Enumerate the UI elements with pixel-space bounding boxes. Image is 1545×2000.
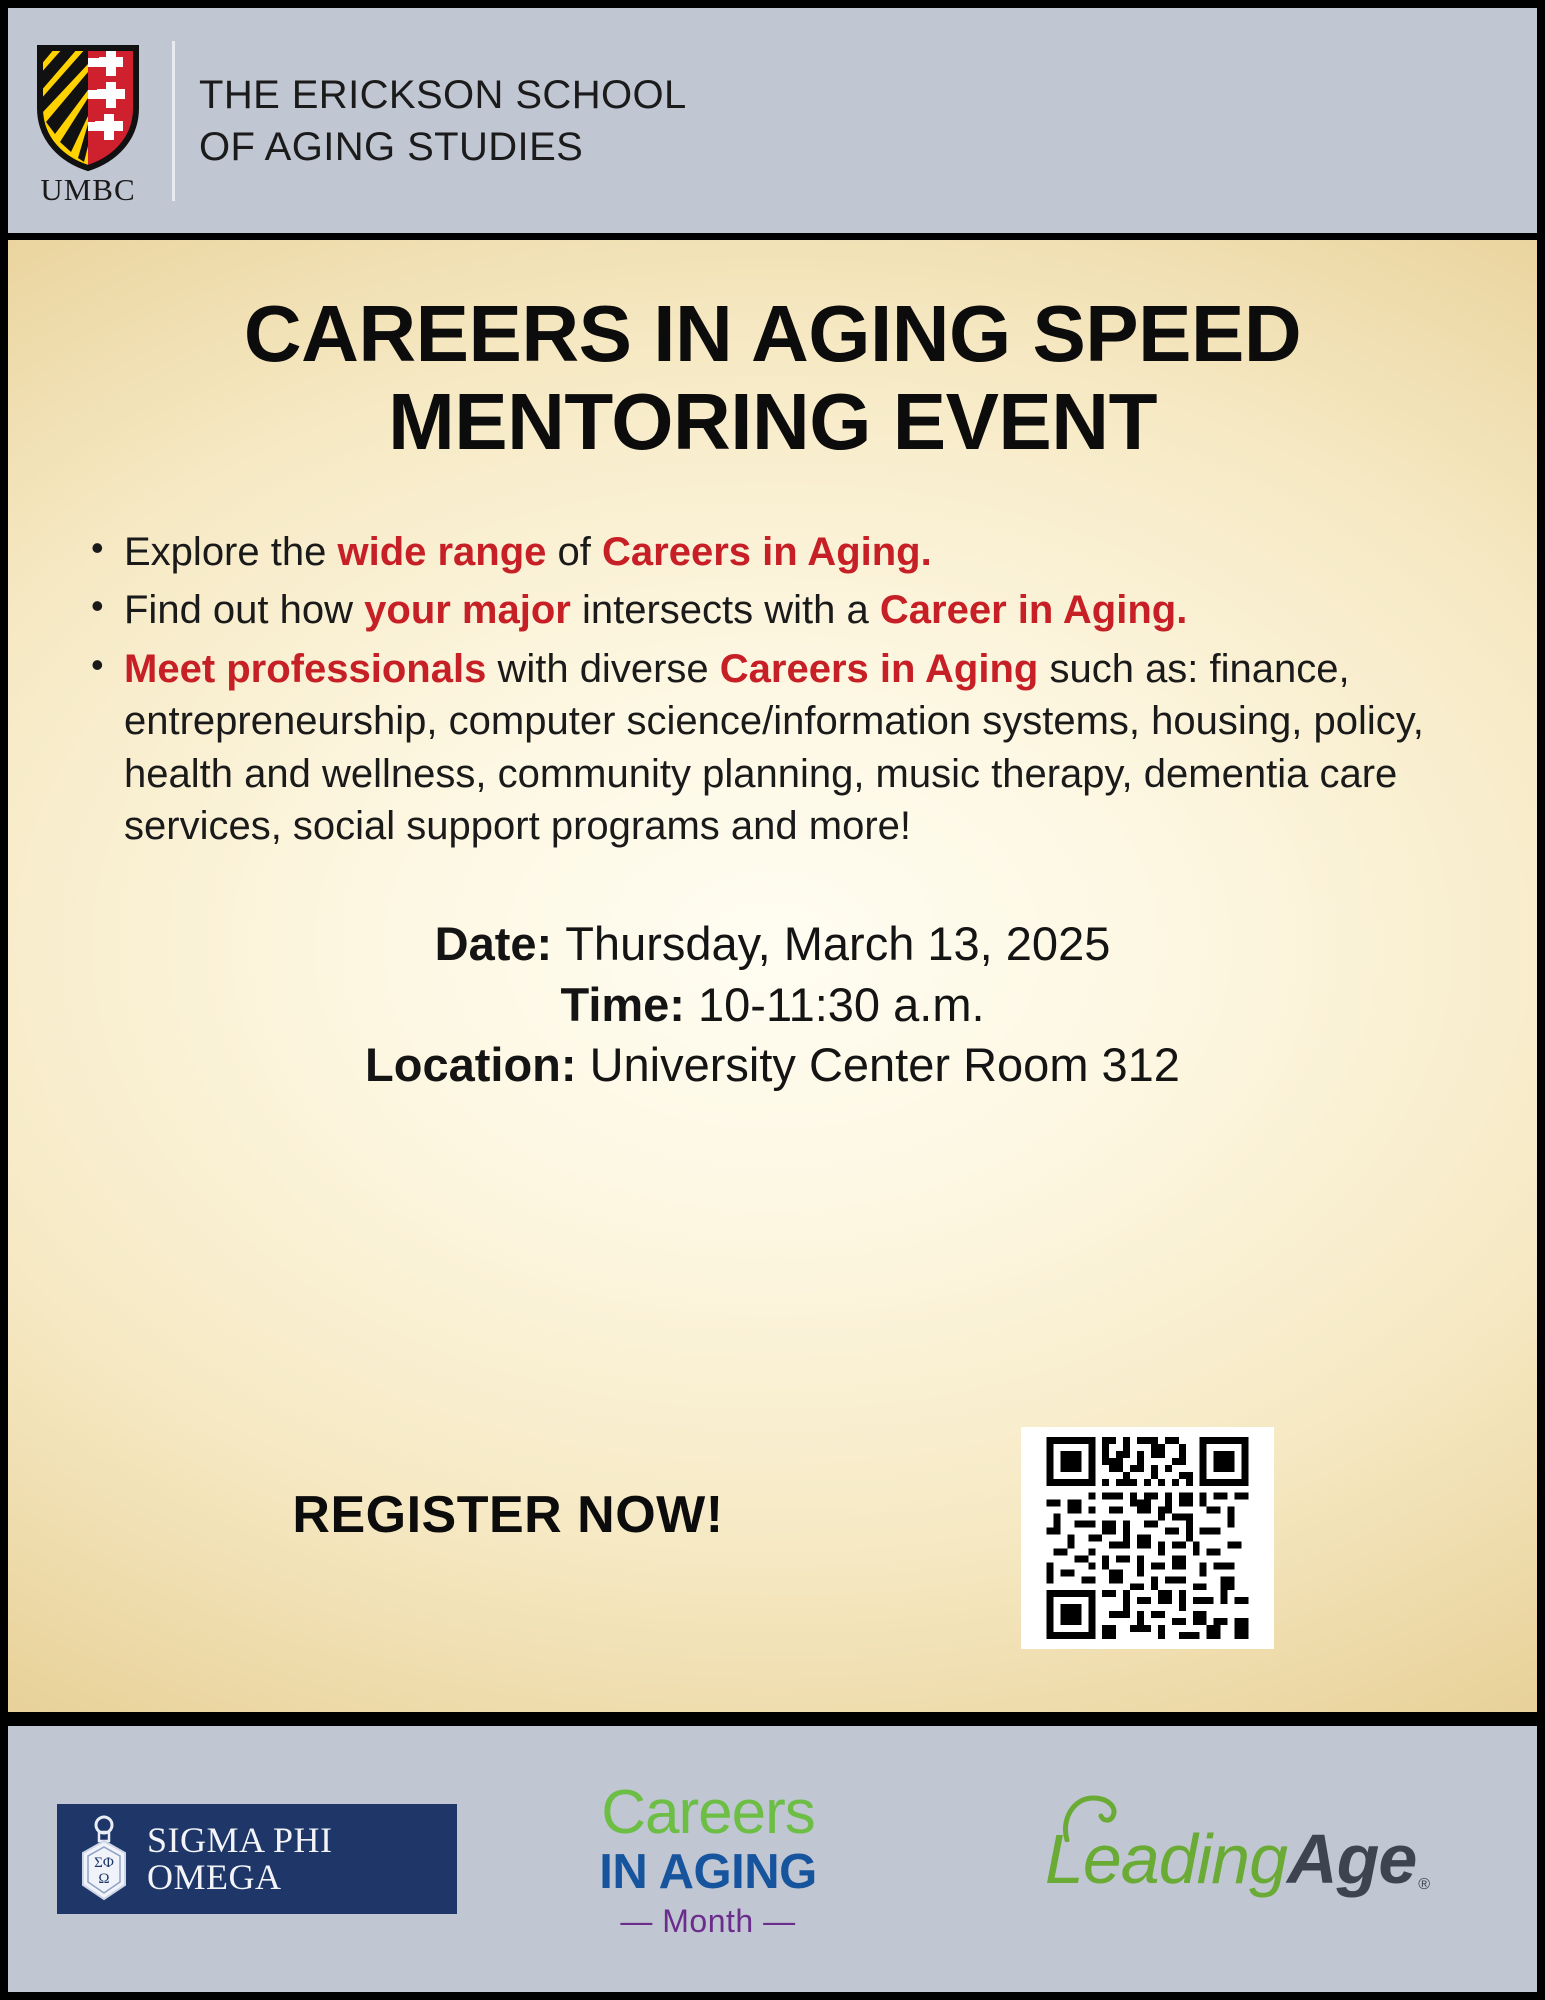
svg-text:ΣΦ: ΣΦ (94, 1855, 114, 1871)
spo-line1: SIGMA PHI (147, 1822, 333, 1859)
bullet-professionals: Meet professionals with diverse Careers … (124, 643, 1479, 853)
emphasis-text: wide range (337, 530, 546, 574)
header-bar: UMBC THE ERICKSON SCHOOL OF AGING STUDIE… (8, 8, 1537, 233)
careers-in-aging-month-logo: Careers IN AGING — Month — (599, 1782, 816, 1937)
leadingage-word-age: Age (1287, 1824, 1416, 1894)
bullet-major: Find out how your major intersects with … (124, 584, 1479, 636)
event-details: Date: Thursday, March 13, 2025Time: 10-1… (8, 914, 1537, 1094)
body-text: intersects with a (571, 588, 880, 632)
school-name: THE ERICKSON SCHOOL OF AGING STUDIES (199, 69, 687, 173)
umbc-wordmark: UMBC (40, 174, 135, 205)
detail-row: Location: University Center Room 312 (8, 1035, 1537, 1095)
emphasis-text: Meet professionals (124, 647, 486, 691)
cam-word-in-aging: IN AGING (599, 1848, 816, 1897)
register-cta: REGISTER NOW! (8, 1485, 1008, 1545)
sigma-phi-omega-wordmark: SIGMA PHI OMEGA (147, 1822, 333, 1895)
body-text: Find out how (124, 588, 364, 632)
emphasis-text: your major (364, 588, 571, 632)
qr-code-icon[interactable] (1021, 1427, 1274, 1649)
poster-root: UMBC THE ERICKSON SCHOOL OF AGING STUDIE… (0, 0, 1545, 2000)
main-content: CAREERS IN AGING SPEED MENTORING EVENT E… (8, 240, 1537, 1712)
sigma-phi-omega-logo: ΣΦ Ω SIGMA PHI OMEGA (57, 1804, 457, 1914)
leaf-swoosh-icon (1059, 1794, 1131, 1842)
footer-sponsor-bar: ΣΦ Ω SIGMA PHI OMEGA Careers IN AGING — … (8, 1726, 1537, 1992)
sponsor-leadingage: Leading Age ® (938, 1824, 1537, 1894)
leadingage-logo: Leading Age ® (1045, 1824, 1430, 1894)
body-text: with diverse (486, 647, 719, 691)
header-divider (172, 41, 175, 201)
detail-row: Date: Thursday, March 13, 2025 (8, 914, 1537, 974)
school-name-line2: OF AGING STUDIES (199, 121, 687, 173)
detail-row: Time: 10-11:30 a.m. (8, 975, 1537, 1035)
sponsor-sigma-phi-omega: ΣΦ Ω SIGMA PHI OMEGA (8, 1804, 478, 1914)
detail-label: Location: (365, 1038, 590, 1091)
detail-value: University Center Room 312 (590, 1038, 1180, 1091)
school-name-line1: THE ERICKSON SCHOOL (199, 69, 687, 121)
body-text: of (546, 530, 602, 574)
detail-value: 10-11:30 a.m. (698, 978, 985, 1031)
bullet-explore: Explore the wide range of Careers in Agi… (124, 526, 1479, 578)
emphasis-text: Careers in Aging. (602, 530, 932, 574)
sigma-phi-omega-pendant-icon: ΣΦ Ω (71, 1813, 137, 1905)
emphasis-text: Career in Aging. (880, 588, 1187, 632)
cam-word-careers: Careers (599, 1782, 816, 1844)
body-text: Explore the (124, 530, 337, 574)
umbc-logo-block: UMBC (8, 8, 168, 233)
detail-value: Thursday, March 13, 2025 (565, 917, 1110, 970)
svg-text:Ω: Ω (98, 1871, 109, 1887)
leadingage-trademark: ® (1418, 1876, 1430, 1894)
emphasis-text: Careers in Aging (720, 647, 1039, 691)
spo-line2: OMEGA (147, 1859, 333, 1896)
cam-word-month: — Month — (599, 1905, 816, 1937)
page-title: CAREERS IN AGING SPEED MENTORING EVENT (8, 240, 1537, 466)
detail-label: Time: (560, 978, 698, 1031)
detail-label: Date: (435, 917, 566, 970)
highlights-list: Explore the wide range of Careers in Agi… (8, 526, 1537, 852)
umbc-shield-icon (35, 42, 141, 172)
sponsor-careers-in-aging-month: Careers IN AGING — Month — (478, 1782, 938, 1937)
